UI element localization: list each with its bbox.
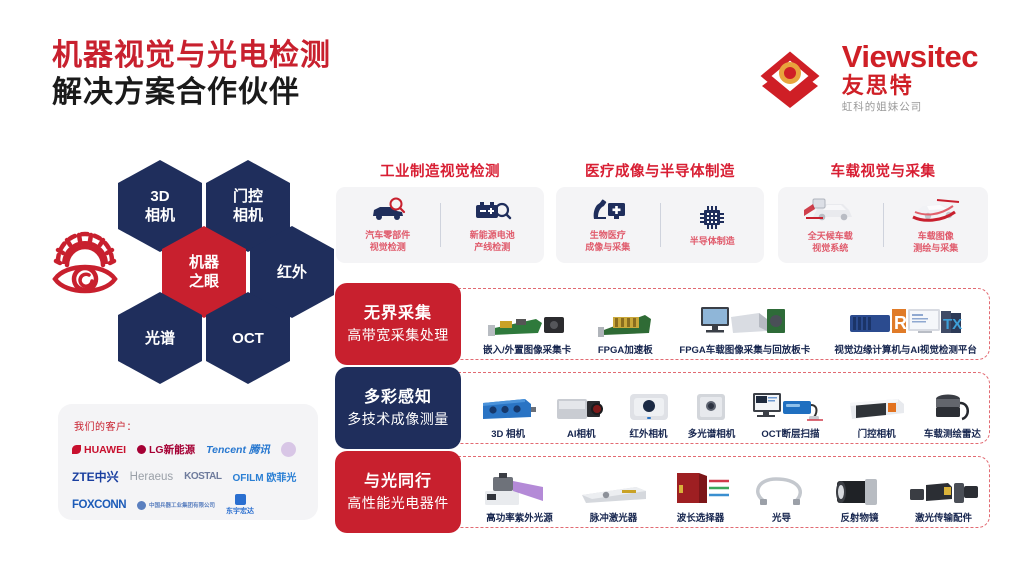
machine-vision-hex-cluster: 3D 相机 门控 相机 机器 之眼 红外 光谱 OCT (48, 160, 330, 382)
application-item-semiconductor[interactable]: 半导体制造 (661, 203, 765, 247)
application-group-title: 工业制造视觉检测 (336, 160, 544, 181)
product-row-acquisition: 无界采集 高带宽采集处理 嵌入/外置图像采集卡 (336, 288, 990, 360)
label-line1: 全天候车载 (808, 231, 853, 241)
product-row-photonics: 与光同行 高性能光电器件 高功率紫外光源 (336, 456, 990, 528)
multispectral-camera-thumb (691, 387, 731, 423)
eye-gear-icon (48, 230, 122, 304)
car-mapping-icon (907, 196, 965, 226)
logo-name-cn: 友思特 (842, 73, 978, 99)
product-item[interactable]: 激光传输配件 (908, 471, 980, 524)
product-item[interactable]: 多光谱相机 (688, 387, 736, 440)
clients-title: 我们的客户： (74, 418, 137, 433)
label-line1: 新能源电池 (470, 230, 515, 240)
client-logo-label: Tencent 腾讯 (206, 442, 270, 457)
product-item[interactable]: 车载测绘雷达 (924, 387, 981, 440)
client-logo-label: Heraeus (130, 471, 173, 483)
product-item-label: 红外相机 (629, 426, 667, 440)
lg-circle-icon (137, 445, 146, 454)
university-seal-icon (281, 442, 296, 457)
svg-text:TX: TX (943, 316, 962, 333)
product-item-label: 脉冲激光器 (590, 510, 638, 524)
product-item[interactable]: R TX 视觉边缘计算机与AI视觉检测平台 (834, 303, 977, 356)
application-item-label: 全天候车载 视觉系统 (808, 230, 853, 254)
hex-node-line1: 光谱 (145, 329, 175, 348)
car-inspection-icon (368, 197, 408, 225)
page-header: 机器视觉与光电检测 解决方案合作伙伴 Viewsitec 友思特 虹科的姐妹公司 (0, 0, 1024, 140)
application-group-title: 车载视觉与采集 (778, 160, 988, 181)
label-line1: 半导体制造 (690, 236, 735, 246)
product-item-label: FPGA加速板 (598, 342, 653, 356)
application-group-automotive: 车载视觉与采集 全天候车载 视觉系统 (778, 160, 988, 263)
product-item-label: 视觉边缘计算机与AI视觉检测平台 (834, 342, 977, 356)
application-item-label: 车载图像 测绘与采集 (913, 230, 958, 254)
product-item[interactable]: 红外相机 (626, 387, 672, 440)
product-item[interactable]: AI相机 (553, 387, 609, 440)
3d-camera-thumb (479, 387, 537, 423)
badge-line1: 多彩感知 (364, 387, 432, 409)
product-item[interactable]: 门控相机 (846, 387, 908, 440)
ai-camera-thumb (553, 387, 609, 423)
application-item-biomedical-imaging[interactable]: 生物医疗 成像与采集 (556, 197, 660, 253)
client-logo: LG新能源 (137, 442, 195, 457)
label-line2: 成像与采集 (585, 242, 630, 252)
product-items: 嵌入/外置图像采集卡 FPGA加速板 (471, 286, 989, 362)
product-item-label: 门控相机 (858, 426, 896, 440)
label-line1: 车载图像 (918, 231, 954, 241)
product-item[interactable]: 嵌入/外置图像采集卡 (483, 303, 571, 356)
hex-node-line1: 红外 (277, 263, 307, 282)
hex-node-line1: 门控 (233, 187, 263, 206)
frame-grabber-card-thumb (486, 303, 568, 339)
application-item-battery-inspection[interactable]: 新能源电池 产线检测 (441, 197, 545, 253)
application-group-medical: 医疗成像与半导体制造 生物医疗 成像与采集 (556, 160, 764, 263)
client-logo-label: ZTE中兴 (72, 468, 119, 485)
clients-panel: 我们的客户： HUAWEI LG新能源 Tencent 腾讯 ZTE中兴 Her… (58, 404, 318, 520)
oct-scanner-thumb (751, 387, 829, 423)
product-item-label: 3D 相机 (491, 426, 525, 440)
product-item[interactable]: 3D 相机 (479, 387, 537, 440)
fpga-automotive-board-thumb (697, 303, 793, 339)
client-logo-label: KOSTAL (184, 471, 221, 482)
fpga-accelerator-thumb (595, 303, 655, 339)
badge-line1: 无界采集 (364, 303, 432, 325)
product-row-badge[interactable]: 无界采集 高带宽采集处理 (335, 283, 461, 365)
product-row-badge[interactable]: 多彩感知 多技术成像测量 (335, 367, 461, 449)
globe-icon (137, 501, 146, 510)
clients-row: HUAWEI LG新能源 Tencent 腾讯 (72, 442, 299, 457)
product-item[interactable]: 反射物镜 (831, 471, 889, 524)
product-item-label: 光导 (772, 510, 791, 524)
product-item[interactable]: 波长选择器 (669, 471, 733, 524)
hex-node-line1: OCT (232, 329, 264, 348)
client-logo-label: LG新能源 (149, 442, 195, 457)
product-item-label: 车载测绘雷达 (924, 426, 981, 440)
wavelength-selector-thumb (669, 471, 733, 507)
product-item[interactable]: OCT断层扫描 (751, 387, 829, 440)
title-line-2: 解决方案合作伙伴 (52, 74, 331, 112)
dongyu-square-icon (235, 494, 246, 505)
application-item-allweather-vehicle[interactable]: 全天候车载 视觉系统 (778, 196, 883, 254)
client-logo-label: HUAWEI (84, 444, 126, 456)
huawei-petal-icon (72, 445, 81, 454)
clients-row: FOXCONN 中国兵器工业集团有限公司 东宇宏达 (72, 494, 254, 516)
brand-logo: Viewsitec 友思特 虹科的姐妹公司 (748, 36, 978, 120)
product-items: 高功率紫外光源 脉冲激光器 (471, 454, 989, 530)
client-logo: HUAWEI (72, 444, 126, 456)
badge-line1: 与光同行 (364, 471, 432, 493)
client-logo: KOSTAL (184, 471, 221, 482)
client-logo: 中国兵器工业集团有限公司 (137, 501, 215, 510)
badge-line2: 高带宽采集处理 (347, 325, 449, 345)
product-item-label: 激光传输配件 (915, 510, 972, 524)
product-item-label: OCT断层扫描 (761, 426, 819, 440)
logo-name-en: Viewsitec (842, 40, 978, 73)
application-card: 生物医疗 成像与采集 半导体制造 (556, 187, 764, 263)
label-line2: 产线检测 (474, 242, 510, 252)
badge-line2: 多技术成像测量 (347, 409, 449, 429)
application-item-label: 生物医疗 成像与采集 (585, 229, 630, 253)
product-items: 3D 相机 AI相机 红外相机 (471, 370, 989, 446)
product-item-label: 反射物镜 (840, 510, 878, 524)
badge-line2: 高性能光电器件 (347, 493, 449, 513)
hex-node-line1: 3D (150, 187, 169, 206)
product-item-label: 嵌入/外置图像采集卡 (483, 342, 571, 356)
pulsed-laser-thumb (578, 471, 650, 507)
application-group-industrial: 工业制造视觉检测 汽车零部件 视觉检测 (336, 160, 544, 263)
battery-inspection-icon (472, 197, 512, 225)
client-logo: Tencent 腾讯 (206, 442, 270, 457)
gated-camera-thumb (846, 387, 908, 423)
client-logo: Heraeus (130, 471, 173, 483)
logo-subtitle: 虹科的姐妹公司 (842, 99, 978, 115)
product-item-label: AI相机 (567, 426, 596, 440)
page-title: 机器视觉与光电检测 解决方案合作伙伴 (52, 38, 331, 112)
reflective-objective-thumb (831, 471, 889, 507)
application-item-label: 新能源电池 产线检测 (470, 229, 515, 253)
logo-text-block: Viewsitec 友思特 虹科的姐妹公司 (842, 36, 978, 115)
client-logo-seal (281, 442, 299, 457)
client-logo: 东宇宏达 (226, 494, 254, 516)
product-item-label: 多光谱相机 (688, 426, 736, 440)
product-item[interactable]: 脉冲激光器 (578, 471, 650, 524)
client-logo: OFILM 欧菲光 (233, 469, 297, 484)
application-card: 全天候车载 视觉系统 车载图像 测绘与采集 (778, 187, 988, 263)
diamond-layers-logo-icon (748, 36, 832, 120)
microscope-monitor-icon (588, 197, 628, 225)
laser-delivery-thumb (908, 471, 980, 507)
product-item-label: 高功率紫外光源 (486, 510, 553, 524)
product-item-label: FPGA车载图像采集与回放板卡 (679, 342, 810, 356)
title-line-1: 机器视觉与光电检测 (52, 38, 331, 74)
label-line2: 视觉系统 (812, 243, 848, 253)
label-line1: 生物医疗 (590, 230, 626, 240)
application-group-title: 医疗成像与半导体制造 (556, 160, 764, 181)
product-row-badge[interactable]: 与光同行 高性能光电器件 (335, 451, 461, 533)
hex-node-line2: 相机 (145, 206, 175, 225)
label-line2: 测绘与采集 (913, 243, 958, 253)
product-item[interactable]: FPGA加速板 (595, 303, 655, 356)
lidar-thumb (928, 387, 976, 423)
client-logo: FOXCONN (72, 499, 126, 511)
uv-light-source-thumb (481, 471, 559, 507)
allweather-car-icon (803, 196, 857, 226)
client-logo: ZTE中兴 (72, 468, 119, 485)
application-item-label: 半导体制造 (690, 235, 735, 247)
hex-node-line2: 之眼 (189, 272, 219, 291)
client-logo-label: OFILM 欧菲光 (233, 469, 297, 484)
application-item-car-inspection[interactable]: 汽车零部件 视觉检测 (336, 197, 440, 253)
client-logo-label: FOXCONN (72, 499, 126, 511)
label-line1: 汽车零部件 (365, 230, 410, 240)
svg-text:R: R (894, 313, 907, 333)
client-logo-label: 东宇宏达 (226, 506, 254, 516)
product-item[interactable]: 高功率紫外光源 (481, 471, 559, 524)
semiconductor-chip-icon (692, 203, 732, 231)
application-item-vehicle-mapping[interactable]: 车载图像 测绘与采集 (884, 196, 989, 254)
product-item[interactable]: FPGA车载图像采集与回放板卡 (679, 303, 810, 356)
infrared-camera-thumb (626, 387, 672, 423)
application-item-label: 汽车零部件 视觉检测 (365, 229, 410, 253)
product-item[interactable]: 光导 (752, 471, 812, 524)
hex-node-line1: 机器 (189, 253, 219, 272)
client-logo-label: 中国兵器工业集团有限公司 (149, 501, 215, 509)
application-card: 汽车零部件 视觉检测 新能源电池 产线检测 (336, 187, 544, 263)
label-line2: 视觉检测 (370, 242, 406, 252)
light-guide-thumb (752, 471, 812, 507)
edge-computer-thumb: R TX (848, 303, 964, 339)
product-item-label: 波长选择器 (677, 510, 725, 524)
product-row-imaging: 多彩感知 多技术成像测量 3D 相机 (336, 372, 990, 444)
hex-node-line2: 相机 (233, 206, 263, 225)
clients-row: ZTE中兴 Heraeus KOSTAL OFILM 欧菲光 (72, 468, 296, 485)
